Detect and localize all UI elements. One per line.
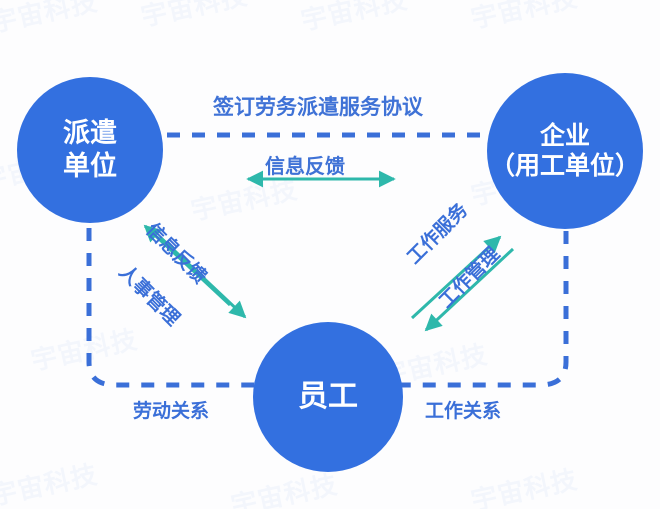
node-enterprise-line1: 企业 [540, 121, 590, 152]
label-work-relation: 工作关系 [425, 396, 501, 423]
node-employee-line1: 员工 [298, 379, 358, 416]
node-dispatch-line2: 单位 [63, 150, 117, 183]
node-dispatch-line1: 派遣 [63, 117, 117, 150]
label-agreement: 签订劳务派遣服务协议 [213, 91, 423, 121]
node-dispatch-unit[interactable]: 派遣 单位 [17, 77, 163, 223]
node-employee[interactable]: 员工 [253, 322, 403, 472]
label-feedback-top: 信息反馈 [265, 150, 345, 179]
diagram-canvas: 宇宙科技 宇宙科技 宇宙科技 宇宙科技 宇宙科技 宇宙科技 宇宙科技 宇宙科技 … [0, 0, 660, 509]
node-enterprise[interactable]: 企业 （用工单位） [487, 73, 643, 229]
node-enterprise-line2: （用工单位） [490, 151, 640, 182]
label-labor-relation: 劳动关系 [133, 396, 209, 423]
